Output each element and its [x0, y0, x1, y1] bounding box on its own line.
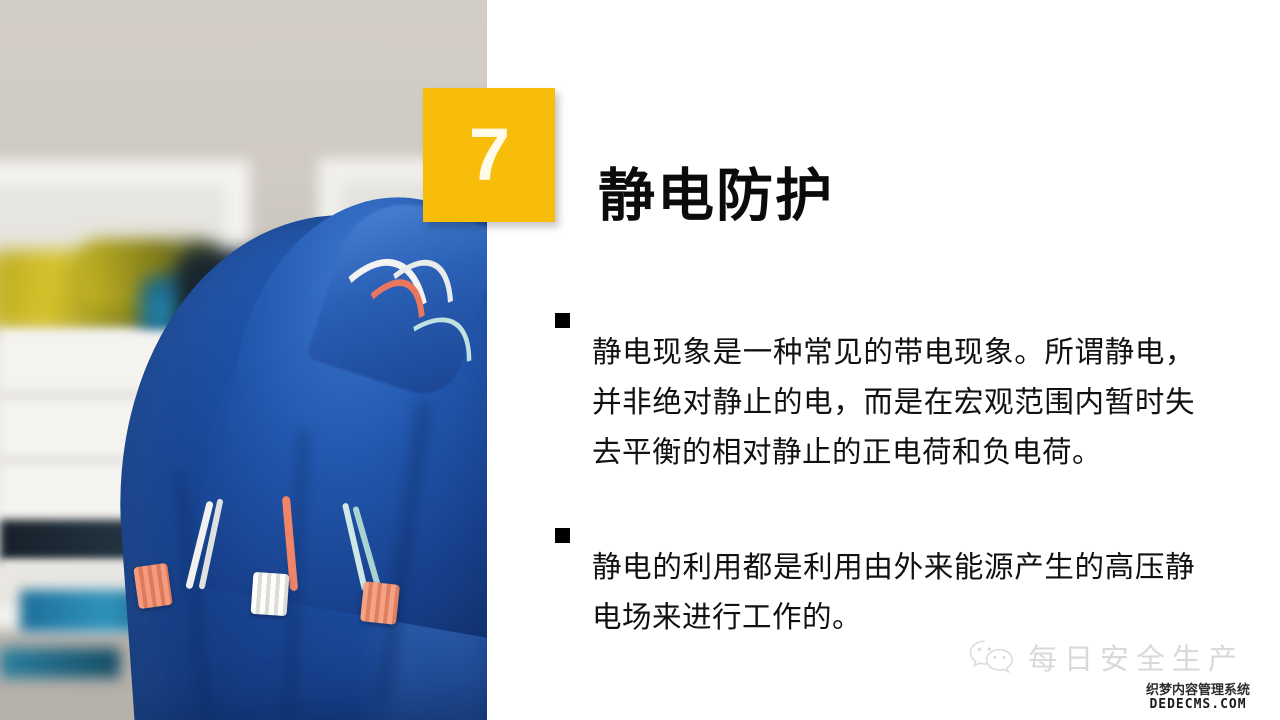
wechat-icon	[968, 638, 1016, 676]
wire-connector-white	[251, 572, 290, 616]
bullet-text: 静电现象是一种常见的带电现象。所谓静电，并非绝对静止的电，而是在宏观范围内暂时失…	[592, 327, 1195, 477]
list-item: 静电现象是一种常见的带电现象。所谓静电，并非绝对静止的电，而是在宏观范围内暂时失…	[555, 297, 1215, 506]
bullet-square-icon	[555, 313, 570, 328]
section-number-badge: 7	[423, 88, 555, 222]
content-panel: 静电防护 静电现象是一种常见的带电现象。所谓静电，并非绝对静止的电，而是在宏观范…	[487, 0, 1280, 720]
cms-watermark-cn: 织梦内容管理系统	[1146, 684, 1250, 698]
wire-connector-orange	[133, 563, 173, 609]
cabinet-teal-band	[0, 648, 120, 678]
wechat-watermark: 每日安全生产	[968, 636, 1244, 678]
wechat-account-name: 每日安全生产	[1028, 636, 1244, 678]
cms-watermark: 织梦内容管理系统 DEDECMS.COM	[1146, 684, 1250, 711]
page-title: 静电防护	[598, 150, 834, 232]
cms-watermark-en: DEDECMS.COM	[1146, 698, 1250, 712]
slide-canvas: 静电防护 静电现象是一种常见的带电现象。所谓静电，并非绝对静止的电，而是在宏观范…	[0, 0, 1280, 720]
wire-connector-orange	[360, 581, 400, 625]
bullet-list: 静电现象是一种常见的带电现象。所谓静电，并非绝对静止的电，而是在宏观范围内暂时失…	[555, 297, 1215, 677]
section-number: 7	[469, 118, 509, 192]
bullet-text: 静电的利用都是利用由外来能源产生的高压静电场来进行工作的。	[592, 542, 1195, 642]
bullet-square-icon	[555, 528, 570, 543]
hero-photo	[0, 0, 487, 720]
